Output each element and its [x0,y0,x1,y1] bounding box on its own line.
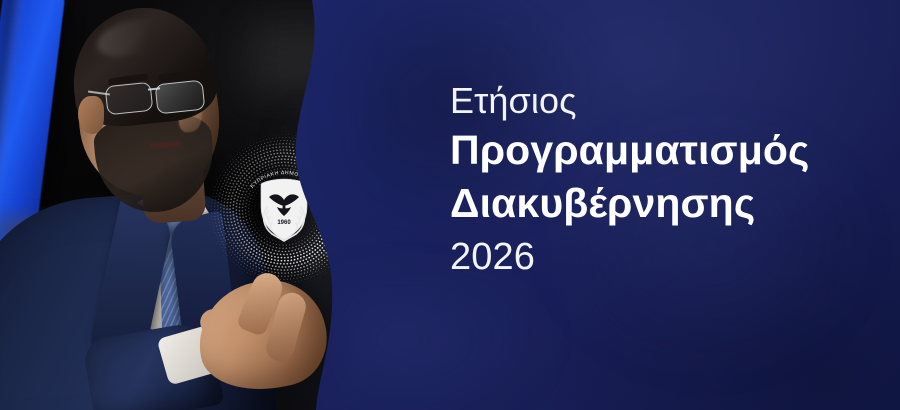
headline-line-3: Διακυβέρνησης [450,177,870,230]
headline-line-2: Προγραμματισμός [450,124,870,177]
svg-text:1960: 1960 [277,220,291,226]
navy-texture-lower [340,280,560,410]
headline-line-1: Ετήσιος [450,78,870,124]
headline-block: Ετήσιος Προγραμματισμός Διακυβέρνησης 20… [450,78,870,282]
ear [78,96,104,134]
annual-governance-programme-banner: 1960 ΚΥΠΡΙΑΚΗ ΔΗΜΟΚΡΑΤΙΑ Ετήσιος Προγραμ… [0,0,900,410]
eyeglasses-lens-left [105,82,154,116]
eyeglasses-lens-right [155,80,206,115]
headline-year: 2026 [450,230,870,282]
